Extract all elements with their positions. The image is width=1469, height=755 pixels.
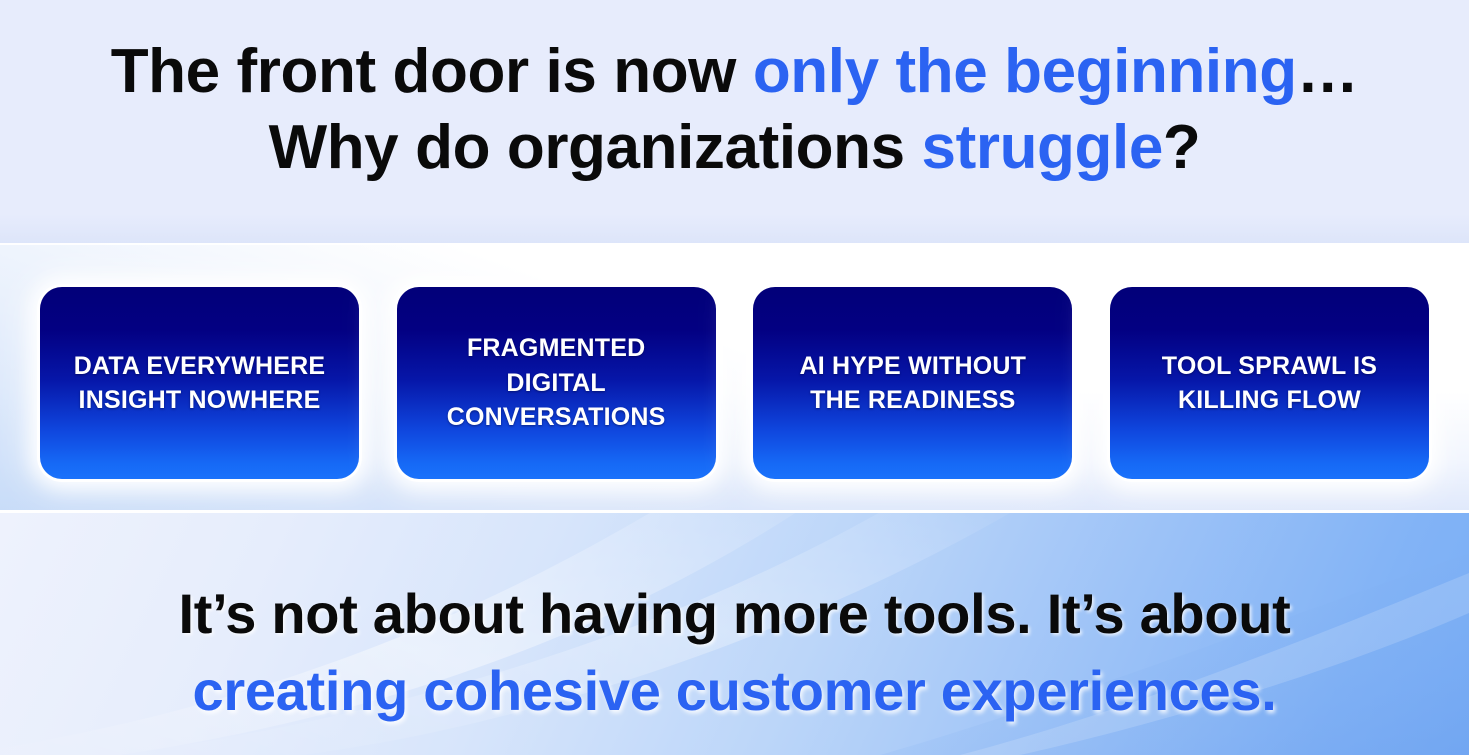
challenge-cards-section: DATA EVERYWHERE INSIGHT NOWHERE FRAGMENT… <box>0 243 1469 513</box>
headline-section: The front door is now only the beginning… <box>0 0 1469 243</box>
challenge-card-4[interactable]: TOOL SPRAWL IS KILLING FLOW <box>1110 287 1429 479</box>
closing-statement-line-1: It’s not about having more tools. It’s a… <box>0 575 1469 652</box>
slide-canvas: The front door is now only the beginning… <box>0 0 1469 755</box>
challenge-card-3-line-2: THE READINESS <box>800 383 1027 418</box>
challenge-card-row: DATA EVERYWHERE INSIGHT NOWHERE FRAGMENT… <box>40 287 1429 479</box>
challenge-card-3[interactable]: AI HYPE WITHOUT THE READINESS <box>753 287 1072 479</box>
headline-line2-accent: struggle <box>922 113 1163 182</box>
challenge-card-2-label: FRAGMENTED DIGITAL CONVERSATIONS <box>447 331 666 435</box>
challenge-card-4-line-2: KILLING FLOW <box>1162 383 1377 418</box>
headline-line2-tail: ? <box>1163 113 1200 182</box>
challenge-card-2-line-2: DIGITAL <box>447 366 666 401</box>
challenge-card-1[interactable]: DATA EVERYWHERE INSIGHT NOWHERE <box>40 287 359 479</box>
headline-line-1: The front door is now only the beginning… <box>0 34 1469 110</box>
headline-line-2: Why do organizations struggle? <box>0 110 1469 186</box>
closing-statement-line-2: creating cohesive customer experiences. <box>0 652 1469 729</box>
challenge-card-2-line-1: FRAGMENTED <box>447 331 666 366</box>
challenge-card-4-line-1: TOOL SPRAWL IS <box>1162 349 1377 384</box>
headline-line1-accent: only the beginning <box>753 37 1297 106</box>
challenge-card-3-label: AI HYPE WITHOUT THE READINESS <box>800 349 1027 418</box>
challenge-card-4-label: TOOL SPRAWL IS KILLING FLOW <box>1162 349 1377 418</box>
headline-line1-tail: … <box>1297 37 1359 106</box>
challenge-card-1-line-1: DATA EVERYWHERE <box>74 349 326 384</box>
section-divider-top <box>0 243 1469 245</box>
challenge-card-3-line-1: AI HYPE WITHOUT <box>800 349 1027 384</box>
headline-line1-plain: The front door is now <box>111 37 753 106</box>
challenge-card-1-line-2: INSIGHT NOWHERE <box>74 383 326 418</box>
page-title: The front door is now only the beginning… <box>0 34 1469 185</box>
challenge-card-2[interactable]: FRAGMENTED DIGITAL CONVERSATIONS <box>397 287 716 479</box>
challenge-card-2-line-3: CONVERSATIONS <box>447 400 666 435</box>
closing-statement: It’s not about having more tools. It’s a… <box>0 575 1469 730</box>
closing-statement-section: It’s not about having more tools. It’s a… <box>0 513 1469 755</box>
headline-line2-plain: Why do organizations <box>269 113 922 182</box>
challenge-card-1-label: DATA EVERYWHERE INSIGHT NOWHERE <box>74 349 326 418</box>
